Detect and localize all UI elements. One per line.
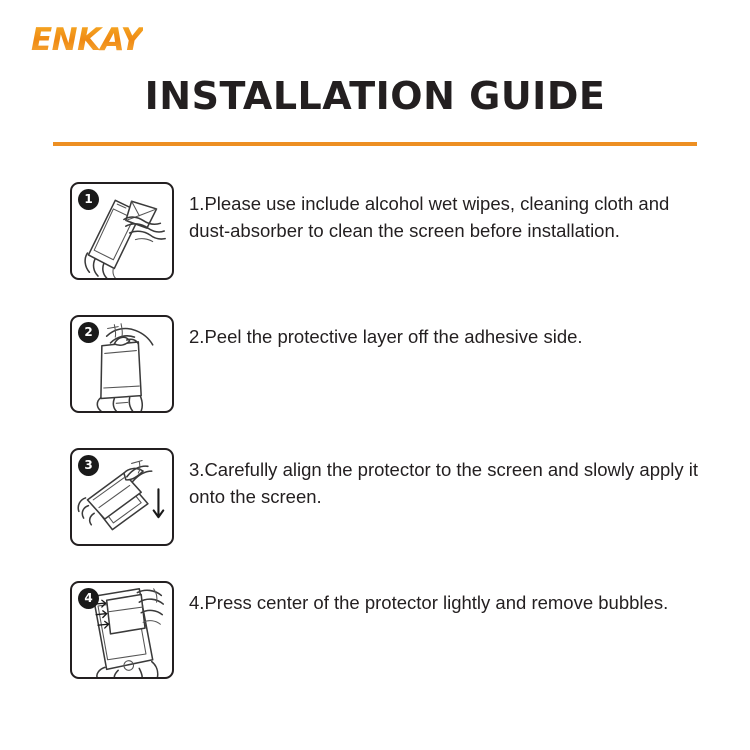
step-1-text: 1.Please use include alcohol wet wipes, …	[189, 182, 750, 244]
step-3-body: Carefully align the protector to the scr…	[189, 459, 698, 507]
step-3-number: 3.	[189, 459, 204, 480]
step-1-body: Please use include alcohol wet wipes, cl…	[189, 193, 669, 241]
step-4-number: 4.	[189, 592, 204, 613]
step-2-badge: 2	[78, 322, 99, 343]
step-4-figure: 4	[70, 581, 174, 679]
brand-logo: ENKAY	[31, 25, 143, 56]
step-2-number: 2.	[189, 326, 204, 347]
step-2-text: 2.Peel the protective layer off the adhe…	[189, 315, 750, 350]
step-1-number: 1.	[189, 193, 204, 214]
step-3-badge: 3	[78, 455, 99, 476]
step-3-figure: 3	[70, 448, 174, 546]
step-4-body: Press center of the protector lightly an…	[204, 592, 668, 613]
header-divider	[53, 142, 697, 146]
list-item: 4	[0, 581, 750, 679]
step-1-figure: 1	[70, 182, 174, 280]
list-item: 1	[0, 182, 750, 280]
step-4-text: 4.Press center of the protector lightly …	[189, 581, 750, 616]
step-1-badge: 1	[78, 189, 99, 210]
list-item: 3	[0, 448, 750, 546]
list-item: 2	[0, 315, 750, 413]
step-2-body: Peel the protective layer off the adhesi…	[204, 326, 582, 347]
page-title: INSTALLATION GUIDE	[0, 76, 750, 118]
steps-list: 1	[0, 178, 750, 679]
step-2-figure: 2	[70, 315, 174, 413]
step-4-badge: 4	[78, 588, 99, 609]
step-3-text: 3.Carefully align the protector to the s…	[189, 448, 750, 510]
